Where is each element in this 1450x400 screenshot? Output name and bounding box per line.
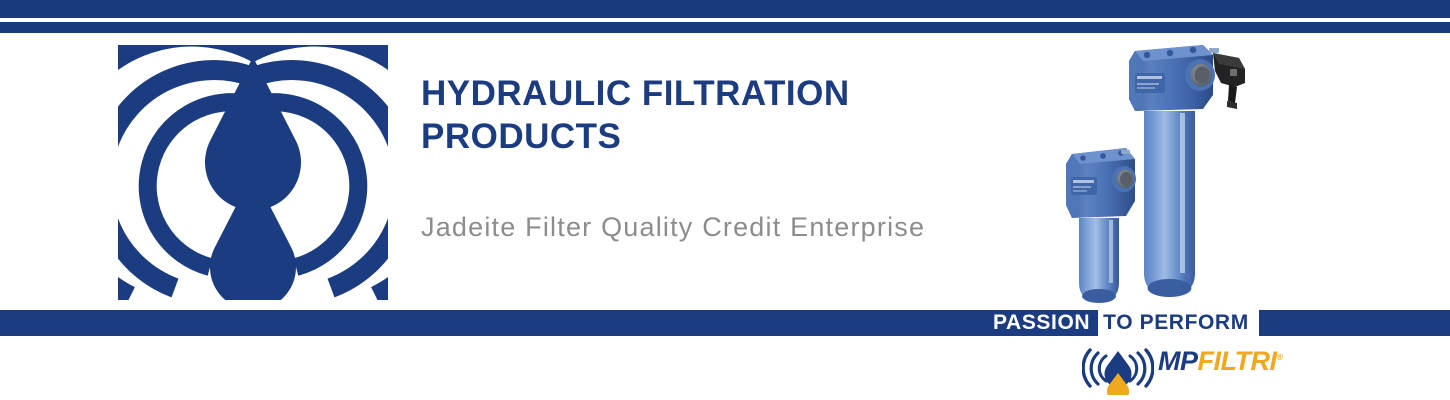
page-title: HYDRAULIC FILTRATION PRODUCTS [421,72,1041,158]
slogan-to-perform: TO PERFORM [1098,310,1259,336]
mpfiltri-word-filtri: FILTRI [1198,346,1277,376]
top-blue-bar-thin [0,22,1450,33]
mpfiltri-droplet-mark [1082,340,1154,395]
headline-line-1: HYDRAULIC FILTRATION [421,72,1041,115]
hydraulic-filter-housings-photo [1063,33,1293,310]
slogan-strip: PASSION TO PERFORM [988,310,1259,336]
mpfiltri-wordmark: MPFILTRI® [1158,344,1283,375]
headline-line-2: PRODUCTS [421,115,1041,158]
mpfiltri-word-mp: MP [1158,346,1198,376]
mpfiltri-logo: MPFILTRI® [1082,340,1262,395]
top-blue-bar-thick [0,0,1450,18]
tagline: Jadeite Filter Quality Credit Enterprise [421,212,925,243]
slogan-passion: PASSION [988,310,1095,336]
hydraulic-filtration-banner: HYDRAULIC FILTRATION PRODUCTS Jadeite Fi… [0,0,1450,400]
company-droplet-logo [118,45,388,300]
registered-trademark-icon: ® [1276,352,1282,362]
